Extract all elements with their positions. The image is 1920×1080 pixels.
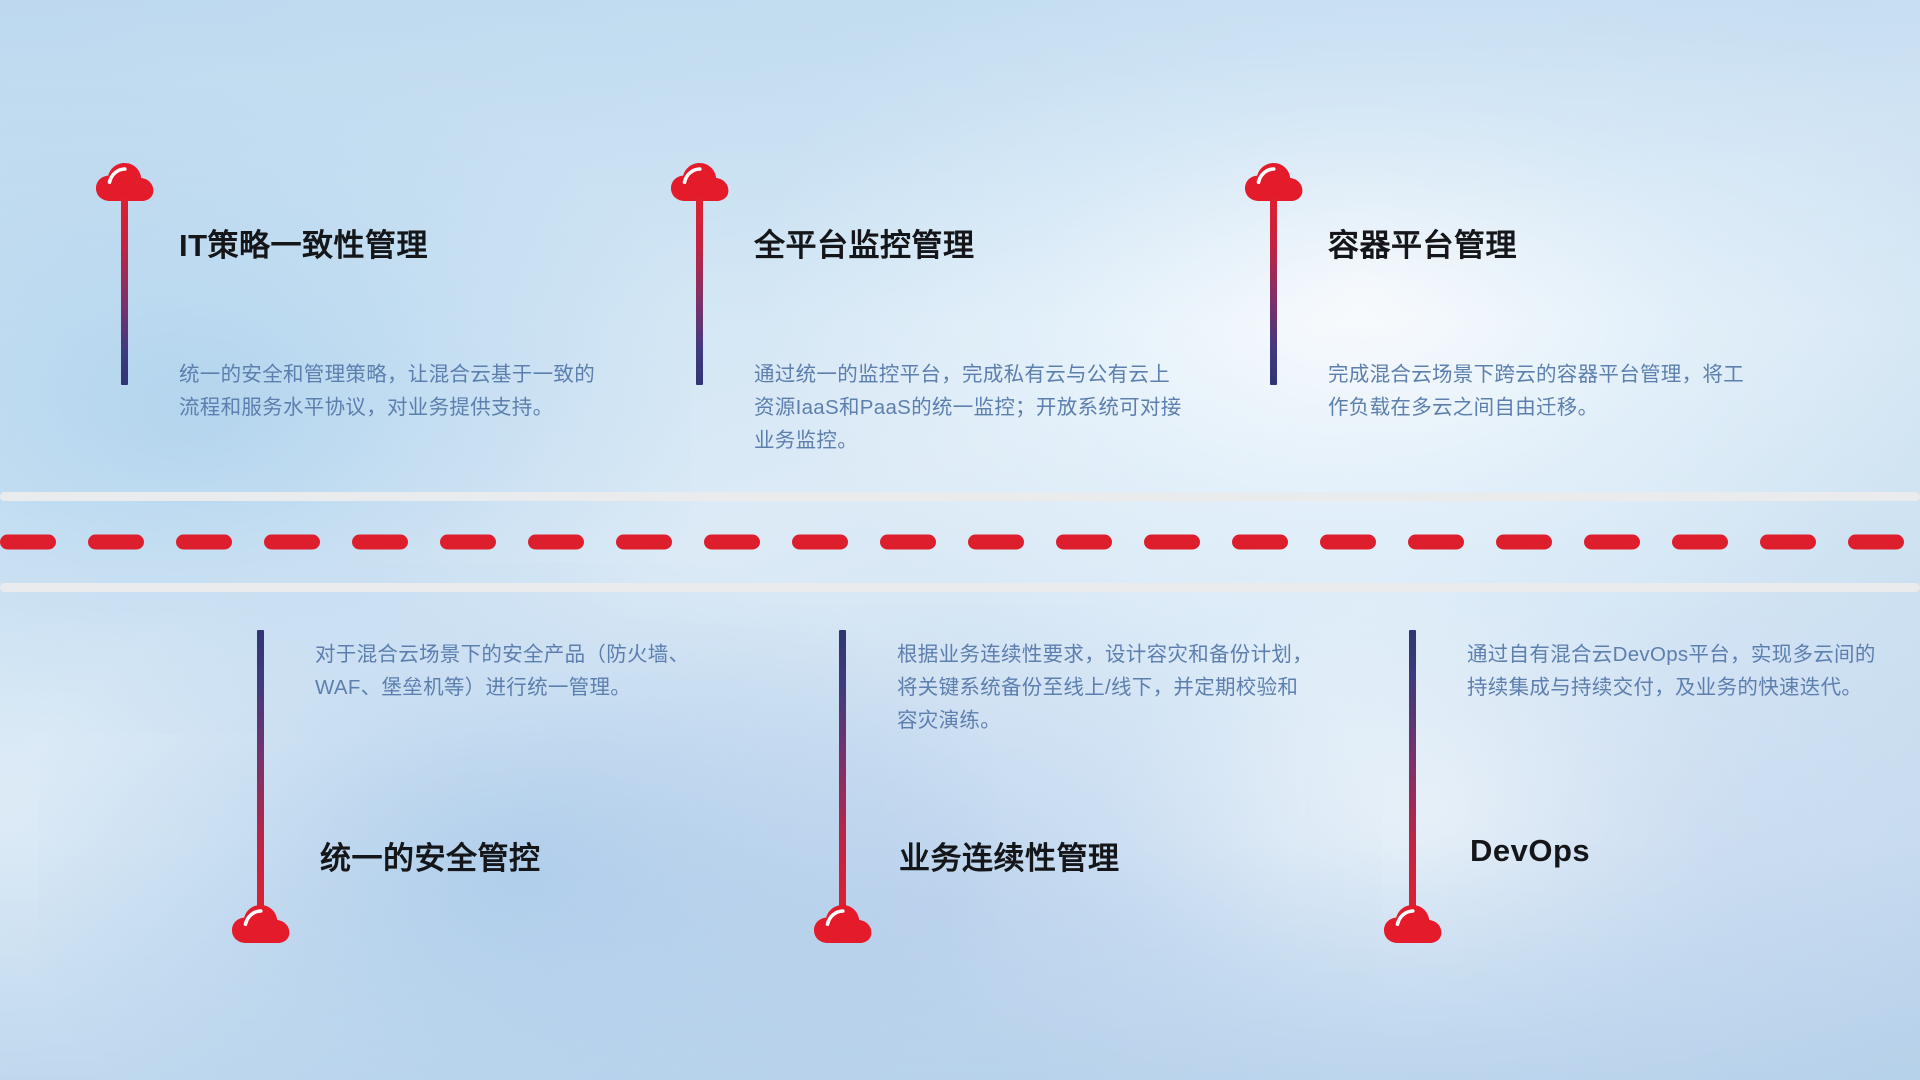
divider-dash bbox=[1232, 535, 1288, 550]
divider-dash bbox=[616, 535, 672, 550]
divider-dash bbox=[968, 535, 1024, 550]
card-title: 容器平台管理 bbox=[1328, 220, 1517, 265]
divider-dash bbox=[1584, 535, 1640, 550]
card-title: DevOps bbox=[1470, 833, 1590, 869]
divider-dash bbox=[1672, 535, 1728, 550]
card-body: 通过自有混合云DevOps平台，实现多云间的持续集成与持续交付，及业务的快速迭代… bbox=[1467, 638, 1887, 704]
divider-dash bbox=[88, 535, 144, 550]
card-body: 通过统一的监控平台，完成私有云与公有云上资源IaaS和PaaS的统一监控；开放系… bbox=[754, 358, 1184, 458]
card-body: 对于混合云场景下的安全产品（防火墙、WAF、堡垒机等）进行统一管理。 bbox=[315, 638, 735, 704]
card-title: 全平台监控管理 bbox=[754, 220, 975, 265]
divider-dash bbox=[1496, 535, 1552, 550]
connector-stem bbox=[1270, 198, 1277, 385]
divider-dash bbox=[528, 535, 584, 550]
divider-dash bbox=[1144, 535, 1200, 550]
card-title: IT策略一致性管理 bbox=[179, 220, 428, 265]
connector-stem bbox=[121, 198, 128, 385]
divider-dash bbox=[1056, 535, 1112, 550]
cloud-icon bbox=[813, 902, 873, 946]
divider-rail-bottom bbox=[0, 583, 1920, 592]
card-body: 根据业务连续性要求，设计容灾和备份计划，将关键系统备份至线上/线下，并定期校验和… bbox=[897, 638, 1317, 738]
divider-dash bbox=[792, 535, 848, 550]
card-body: 完成混合云场景下跨云的容器平台管理，将工作负载在多云之间自由迁移。 bbox=[1328, 358, 1750, 424]
connector-stem bbox=[1409, 630, 1416, 915]
divider-dash bbox=[440, 535, 496, 550]
divider-dash bbox=[0, 535, 56, 550]
connector-stem bbox=[696, 198, 703, 385]
cloud-icon bbox=[1383, 902, 1443, 946]
divider-dash bbox=[880, 535, 936, 550]
background-top-wash bbox=[0, 0, 1920, 324]
divider-dash bbox=[176, 535, 232, 550]
divider-dash bbox=[704, 535, 760, 550]
background-bottom-wash bbox=[0, 842, 1920, 1080]
divider-dash bbox=[264, 535, 320, 550]
divider-dash bbox=[1320, 535, 1376, 550]
divider-dash bbox=[1848, 535, 1904, 550]
divider-dash bbox=[1408, 535, 1464, 550]
divider-rail-top bbox=[0, 492, 1920, 501]
divider-dash bbox=[1760, 535, 1816, 550]
road-divider bbox=[0, 492, 1920, 592]
connector-stem bbox=[839, 630, 846, 915]
connector-stem bbox=[257, 630, 264, 915]
divider-dash-track bbox=[0, 535, 1920, 550]
card-title: 业务连续性管理 bbox=[899, 833, 1120, 878]
divider-dash bbox=[352, 535, 408, 550]
card-body: 统一的安全和管理策略，让混合云基于一致的流程和服务水平协议，对业务提供支持。 bbox=[179, 358, 597, 424]
card-title: 统一的安全管控 bbox=[320, 833, 541, 878]
cloud-icon bbox=[231, 902, 291, 946]
